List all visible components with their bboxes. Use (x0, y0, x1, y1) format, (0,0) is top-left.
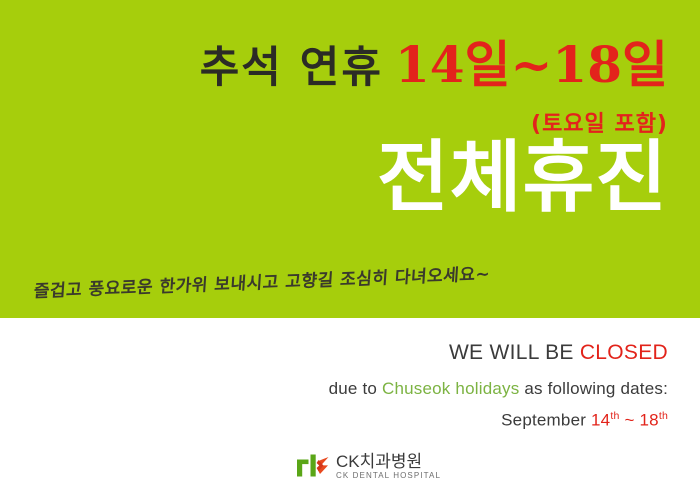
notice-dates-start-ordinal: th (610, 410, 619, 422)
hero-closed-korean: 전체휴진 (0, 138, 668, 220)
hero-title-korean: 추석 연휴 (200, 43, 383, 93)
hospital-logo-text: CK치과병원 CK DENTAL HOSPITAL (336, 453, 441, 480)
closure-notice-poster: 추석 연휴14일~18일 (토요일 포함) 전체휴진 즐겁고 풍요로운 한가위 … (0, 0, 700, 485)
notice-line-closed-highlight: CLOSED (580, 341, 668, 364)
notice-line-closed: WE WILL BE CLOSED (0, 341, 668, 365)
hero-headline: 추석 연휴14일~18일 (0, 40, 668, 90)
notice-line-reason-highlight: Chuseok holidays (382, 379, 519, 398)
notice-line-dates: September 14th ~ 18th (0, 410, 668, 431)
notice-line-closed-prefix: WE WILL BE (449, 341, 580, 364)
hero-date-range: 14일~18일 (395, 35, 668, 94)
hospital-name-english: CK DENTAL HOSPITAL (336, 472, 441, 480)
notice-dates-start-day: 14 (591, 411, 610, 430)
notice-dates-end-day: 18 (640, 411, 659, 430)
notice-dates-end-ordinal: th (659, 410, 668, 422)
notice-dates-month: September (501, 411, 591, 430)
notice-line-reason-prefix: due to (329, 379, 382, 398)
hospital-name-korean: CK치과병원 (336, 453, 441, 470)
notice-line-reason: due to Chuseok holidays as following dat… (0, 379, 668, 399)
notice-dates-separator: ~ (620, 411, 640, 430)
notice-line-reason-suffix: as following dates: (519, 379, 668, 398)
ck-monogram-icon (296, 453, 332, 479)
hospital-logo: CK치과병원 CK DENTAL HOSPITAL (296, 450, 441, 482)
